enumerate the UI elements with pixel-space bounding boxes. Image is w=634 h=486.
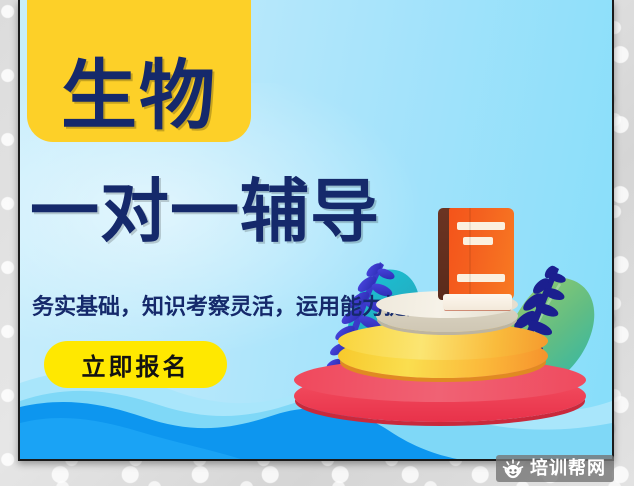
- book-illustration: [438, 208, 514, 312]
- promo-banner: 生物: [18, 0, 614, 461]
- book-cover: [449, 208, 514, 300]
- subject-badge: 生物: [27, 0, 251, 142]
- book-band-1: [457, 222, 505, 230]
- subtitle: 务实基础，知识考察灵活，运用能力提升: [32, 289, 428, 321]
- book-band-3: [457, 274, 505, 282]
- subject-badge-label: 生物: [61, 58, 217, 134]
- smiley-sun-icon: [502, 459, 524, 479]
- illustration-stage: [288, 248, 614, 433]
- watermark-label: 培训帮网: [530, 460, 606, 478]
- enroll-now-button[interactable]: 立即报名: [44, 341, 227, 388]
- headline: 一对一辅导: [30, 178, 380, 247]
- book-band-2: [463, 237, 493, 245]
- watermark: 培训帮网: [496, 455, 614, 482]
- book-pages: [443, 294, 512, 310]
